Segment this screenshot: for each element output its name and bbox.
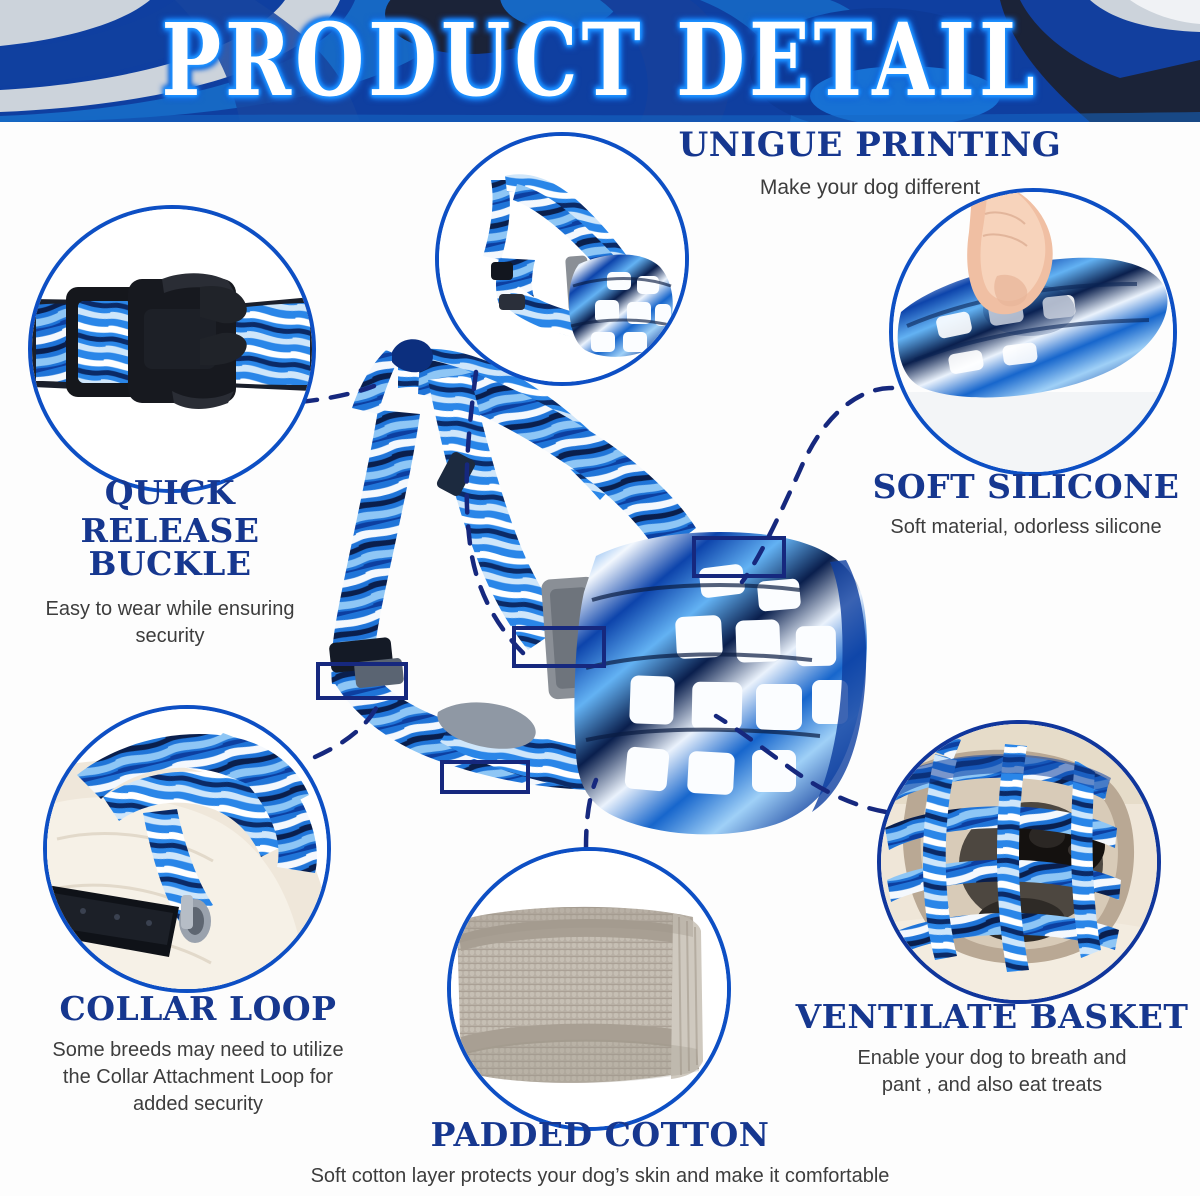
feature-image-ventilate-basket — [877, 720, 1161, 1004]
feature-desc-collar-loop-line1: Some breeds may need to utilize — [8, 1037, 388, 1064]
highlight-box-silicone — [694, 538, 784, 576]
finger-pressing-silicone-photo — [893, 192, 1173, 472]
feature-text-ventilate-basket: VENTILATE BASKET Enable your dog to brea… — [790, 1000, 1194, 1099]
muzzle-basket — [574, 532, 866, 834]
feature-desc-padded-cotton: Soft cotton layer protects your dog’s sk… — [180, 1163, 1020, 1190]
highlight-box-cotton — [514, 628, 604, 666]
muzzle-straps — [329, 339, 696, 792]
feature-image-soft-silicone — [889, 188, 1177, 476]
feature-desc-collar-loop-line2: the Collar Attachment Loop for — [8, 1064, 388, 1091]
page-title: PRODUCT DETAIL — [18, 0, 1182, 122]
feature-desc-soft-silicone: Soft material, odorless silicone — [852, 514, 1200, 541]
feature-title-padded-cotton: PADDED COTTON — [300, 1118, 900, 1151]
feature-desc-padded-cotton-wrap: Soft cotton layer protects your dog’s sk… — [180, 1163, 1020, 1190]
feature-text-quick-release-buckle: QUICK RELEASE BUCKLE Easy to wear while … — [0, 476, 340, 650]
feature-desc-collar-loop-line3: added security — [8, 1091, 388, 1118]
feature-image-collar-loop — [43, 705, 331, 993]
connector-printing — [467, 372, 524, 654]
dog-wearing-muzzle-photo — [881, 724, 1157, 1000]
feature-image-quick-release-buckle — [28, 205, 316, 493]
connector-lines — [300, 372, 892, 848]
feature-desc-quick-release-buckle-line1: Easy to wear while ensuring — [0, 596, 340, 623]
feature-title-quick-release-buckle-line1: QUICK — [0, 476, 340, 509]
feature-image-unique-printing — [435, 132, 689, 386]
connector-cotton — [586, 780, 596, 848]
product-detail-infographic: PRODUCT DETAIL — [0, 0, 1200, 1196]
feature-text-padded-cotton: PADDED COTTON — [300, 1118, 900, 1151]
muzzle-full-product-photo — [439, 136, 685, 382]
feature-text-collar-loop: COLLAR LOOP Some breeds may need to util… — [8, 992, 388, 1117]
highlight-box-collar — [442, 762, 528, 792]
feature-title-ventilate-basket: VENTILATE BASKET — [790, 1000, 1194, 1033]
collar-loop-on-dog-photo — [47, 709, 327, 989]
feature-text-soft-silicone: SOFT SILICONE Soft material, odorless si… — [852, 470, 1200, 541]
black-quick-release-buckle-photo — [32, 209, 312, 489]
feature-desc-ventilate-basket-line1: Enable your dog to breath and — [790, 1045, 1194, 1072]
feature-title-unique-printing: UNIGUE PRINTING — [660, 128, 1080, 162]
feature-text-unique-printing: UNIGUE PRINTING Make your dog different — [660, 128, 1080, 202]
feature-image-padded-cotton — [447, 847, 731, 1131]
feature-title-collar-loop: COLLAR LOOP — [8, 992, 388, 1025]
feature-desc-quick-release-buckle-line2: security — [0, 623, 340, 650]
feature-desc-unique-printing: Make your dog different — [660, 174, 1080, 202]
header-banner: PRODUCT DETAIL — [0, 0, 1200, 122]
feature-title-soft-silicone: SOFT SILICONE — [852, 470, 1200, 503]
highlight-boxes — [318, 538, 784, 792]
connector-ventilate — [716, 716, 886, 812]
highlight-box-buckle — [318, 664, 406, 698]
feature-desc-ventilate-basket-line2: pant , and also eat treats — [790, 1072, 1194, 1099]
beige-knit-cotton-padding-photo — [451, 851, 727, 1127]
feature-title-quick-release-buckle-line2: RELEASE BUCKLE — [0, 514, 340, 580]
